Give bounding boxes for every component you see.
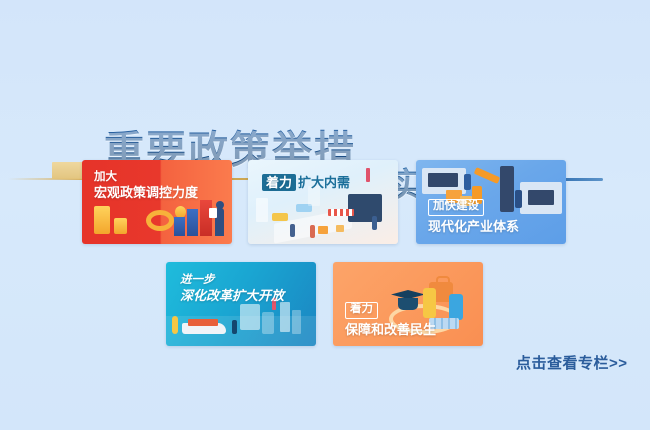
policy-card-reform-opening[interactable]: 进一步 深化改革扩大开放 <box>166 262 316 346</box>
card1-bar-blue-2 <box>187 209 198 236</box>
card2-car-yellow <box>272 213 288 221</box>
card4-top-label: 进一步 <box>180 274 284 288</box>
card5-briefcase-handle <box>436 276 450 286</box>
card4-main-label: 深化改革扩大开放 <box>180 288 284 303</box>
card5-label: 着力 保障和改善民生 <box>345 302 436 337</box>
policy-card-expand-demand[interactable]: 着力扩大内需 <box>248 160 398 244</box>
card4-label: 进一步 深化改革扩大开放 <box>180 274 284 303</box>
card3-machine-right-panel <box>528 190 554 205</box>
policy-card-peoples-livelihood[interactable]: 着力 保障和改善民生 <box>333 262 483 346</box>
card1-bar-blue-1 <box>174 217 185 236</box>
card1-top-label: 加大 <box>94 171 198 185</box>
card5-main-label: 保障和改善民生 <box>345 322 436 337</box>
card4-port-crane-2 <box>262 312 274 334</box>
card2-label: 着力扩大内需 <box>262 174 350 191</box>
card4-bollard <box>172 316 178 334</box>
card1-coin-stack-icon <box>94 206 110 234</box>
card3-main-label: 现代化产业体系 <box>428 219 519 234</box>
card2-flag-icon <box>366 168 370 182</box>
card2-top-label: 着力 <box>262 174 296 191</box>
card3-label: 加快建设 现代化产业体系 <box>428 199 519 234</box>
policy-measures-banner: 重要政策举措 及实施效果 加大 宏观政策调控力度 <box>0 0 650 430</box>
card2-parcel-2 <box>336 225 344 232</box>
card5-water-bottle-icon <box>449 294 463 320</box>
card3-worker-1 <box>464 174 471 190</box>
card4-tower-2 <box>292 310 301 334</box>
policy-card-modern-industry[interactable]: 加快建设 现代化产业体系 <box>416 160 566 244</box>
card2-shopper-2 <box>310 225 315 238</box>
card3-robot-arm <box>474 167 501 184</box>
card3-machine-left-panel <box>428 173 458 187</box>
card2-parcel-1 <box>318 226 328 234</box>
view-column-link[interactable]: 点击查看专栏>> <box>516 352 628 373</box>
card1-coin-stack-small-icon <box>114 218 127 234</box>
card4-port-crane-1 <box>240 304 260 330</box>
card4-tower-1 <box>280 302 290 332</box>
card2-shopper-1 <box>290 224 295 237</box>
card1-main-label: 宏观政策调控力度 <box>94 185 198 200</box>
banner-title-area: 重要政策举措 及实施效果 <box>0 58 650 138</box>
card1-analyst-head <box>216 201 224 209</box>
card1-ring-icon <box>146 210 174 231</box>
card2-shopper-3 <box>372 216 377 230</box>
card4-cargo-containers <box>188 319 218 326</box>
card2-main-label: 扩大内需 <box>298 175 350 190</box>
card1-label: 加大 宏观政策调控力度 <box>94 171 198 200</box>
card5-top-label: 着力 <box>345 302 436 319</box>
card2-awning <box>328 209 354 216</box>
card3-top-label: 加快建设 <box>428 199 519 216</box>
card1-bar-red <box>200 200 212 236</box>
card2-building-1 <box>256 198 268 222</box>
card4-dock-worker <box>232 320 237 334</box>
policy-card-macro-regulation[interactable]: 加大 宏观政策调控力度 <box>82 160 232 244</box>
card1-clipboard-icon <box>209 208 217 218</box>
